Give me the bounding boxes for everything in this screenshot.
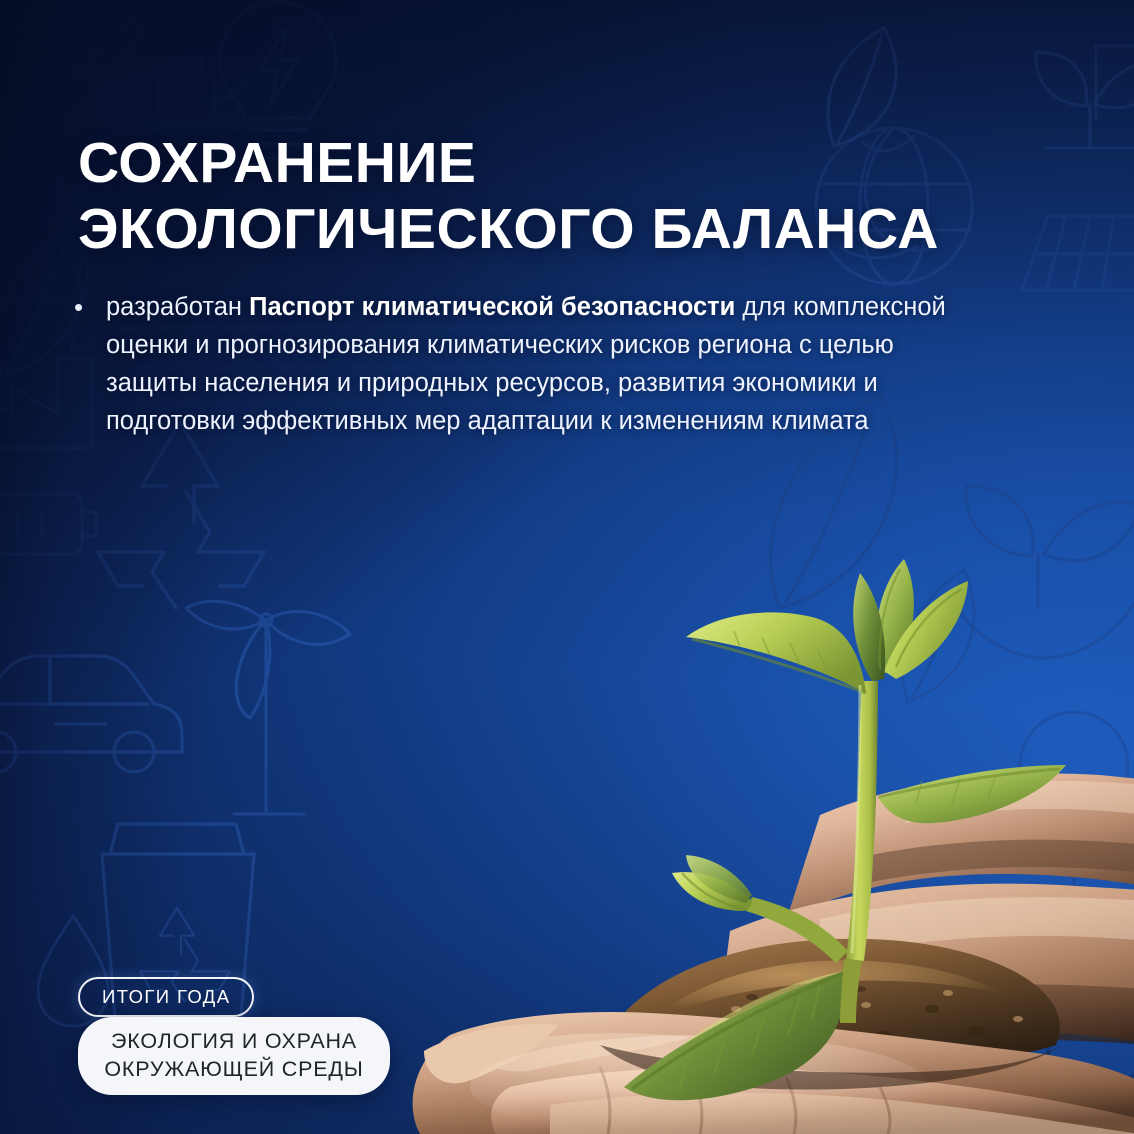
category-badge-line-1: ЭКОЛОГИЯ И ОХРАНА xyxy=(96,1027,372,1055)
slide-canvas: СОХРАНЕНИЕ ЭКОЛОГИЧЕСКОГО БАЛАНСА • разр… xyxy=(0,0,1134,1134)
bullet-item-text: разработан Паспорт климатической безопас… xyxy=(106,288,950,440)
bullet-text-bold: Паспорт климатической безопасности xyxy=(249,293,735,321)
page-title-line-1: СОХРАНЕНИЕ xyxy=(78,131,476,195)
year-results-badge: ИТОГИ ГОДА xyxy=(78,977,254,1017)
bullet-list: • разработан Паспорт климатической безоп… xyxy=(70,288,950,440)
bullet-marker: • xyxy=(70,288,106,326)
hands-holding-seedling-photo xyxy=(300,345,1134,1134)
page-title-line-2: ЭКОЛОГИЧЕСКОГО БАЛАНСА xyxy=(78,196,1028,262)
bullet-text-part-1: разработан xyxy=(106,293,249,321)
category-badge-line-2: ОКРУЖАЮЩЕЙ СРЕДЫ xyxy=(96,1055,372,1083)
page-title: СОХРАНЕНИЕ ЭКОЛОГИЧЕСКОГО БАЛАНСА xyxy=(78,130,1028,262)
list-item: • разработан Паспорт климатической безоп… xyxy=(70,288,950,440)
category-badge: ЭКОЛОГИЯ И ОХРАНА ОКРУЖАЮЩЕЙ СРЕДЫ xyxy=(78,1017,390,1095)
year-results-badge-label: ИТОГИ ГОДА xyxy=(102,986,230,1008)
